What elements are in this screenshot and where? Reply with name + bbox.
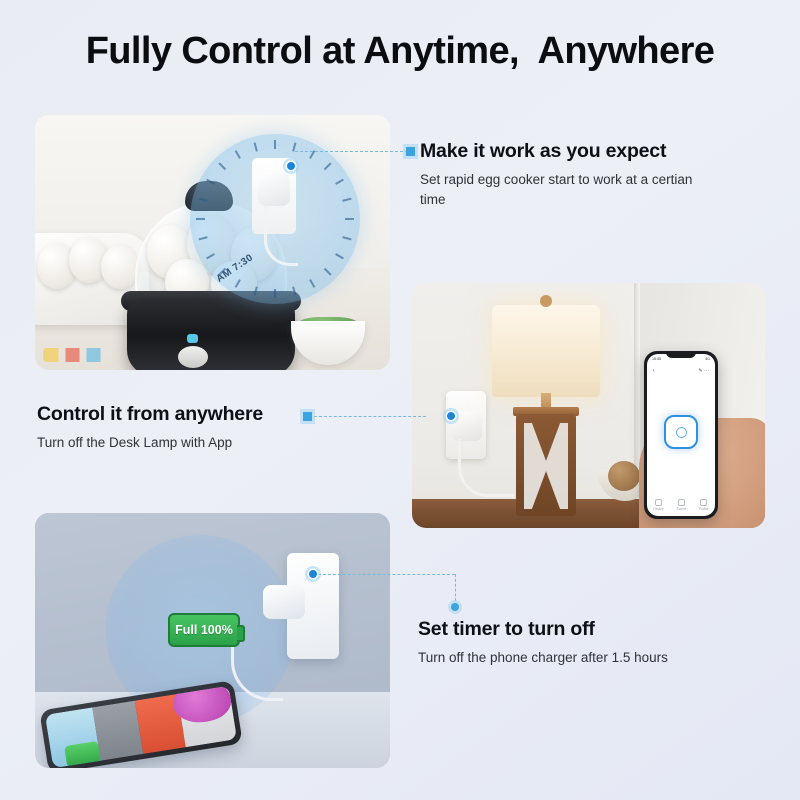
charger-smart-plug [263,585,305,619]
control-anywhere-caption: Control it from anywhere Turn off the De… [37,403,263,453]
feature-heading-remote-control: Control it from anywhere [37,403,263,426]
set-timer-caption: Set timer to turn off Turn off the phone… [418,618,668,668]
app-top-bar: ‹ ✎ ⋯ [647,365,715,376]
phone-charger-photo: Full 100% [35,513,390,768]
status-time: 15:45 [652,357,661,361]
make-it-work-caption-marker[interactable] [406,147,415,156]
feature-body-remote-control: Turn off the Desk Lamp with App [37,433,263,453]
screen-green-tile [64,741,101,768]
chevron-left-icon[interactable]: ‹ [653,368,655,374]
cooker-indicator-light [187,334,198,343]
power-icon [676,427,687,438]
charger-plug-marker[interactable] [305,566,321,582]
counter-decor [43,348,113,362]
battery-badge: Full 100% [168,613,240,647]
scene-icon [678,499,685,506]
cooker-lid-knob [185,181,233,211]
lamp-plug-marker[interactable] [443,408,459,424]
egg-photo-background [35,115,390,370]
phone-notch [666,351,696,358]
more-dots-icon[interactable]: ⋯ [704,368,709,374]
profile-icon [700,499,707,506]
connector-timer-line-h [318,574,455,575]
lamp-plug-cord [458,439,514,497]
tab-scene-label: Scene [677,507,687,511]
device-icon [655,499,662,506]
lamp-photo-background: 15:45 4G ‹ ✎ ⋯ [412,283,765,528]
cooker-base [127,298,295,370]
power-toggle-button[interactable] [664,415,698,449]
phone-screen: 15:45 4G ‹ ✎ ⋯ [647,354,715,516]
pencil-icon[interactable]: ✎ [698,368,702,374]
connector-timer-line-v [455,574,456,606]
app-actions: ✎ ⋯ [698,368,709,374]
egg-smart-plug [258,172,290,206]
feature-body-timer-off: Turn off the phone charger after 1.5 hou… [418,648,668,668]
cooker-dial-knob [178,346,208,368]
status-network: 4G [705,357,710,361]
egg-plug-marker[interactable] [283,158,299,174]
tab-scene[interactable]: Scene [677,499,687,511]
marketing-banner: Fully Control at Anytime, Anywhere [0,0,800,800]
smartphone: 15:45 4G ‹ ✎ ⋯ [644,351,718,519]
feature-heading-scheduled-start: Make it work as you expect [420,140,720,163]
decor-ball [608,461,640,491]
lamp-shade [492,305,600,397]
tab-device-label: Device [653,507,663,511]
connector-lamp-line [314,416,426,417]
tab-device[interactable]: Device [653,499,663,511]
make-it-work-caption: Make it work as you expect Set rapid egg… [420,140,720,209]
feature-body-scheduled-start: Set rapid egg cooker start to work at a … [420,170,720,209]
page-title: Fully Control at Anytime, Anywhere [0,30,800,73]
app-tab-bar: Device Scene Profile [647,497,715,513]
feature-heading-timer-off: Set timer to turn off [418,618,668,641]
connector-egg-line [295,151,408,152]
battery-label: Full 100% [175,623,233,637]
carton-egg [101,245,139,289]
desk-lamp-photo: 15:45 4G ‹ ✎ ⋯ [412,283,765,528]
charger-photo-background: Full 100% [35,513,390,768]
egg-cooker-photo [35,115,390,370]
tab-profile[interactable]: Profile [699,499,709,511]
set-timer-caption-marker[interactable] [451,603,459,611]
egg-plug-cord [264,204,298,266]
lamp-caption-marker[interactable] [303,412,312,421]
tab-profile-label: Profile [699,507,709,511]
lamp-finial [540,295,552,307]
